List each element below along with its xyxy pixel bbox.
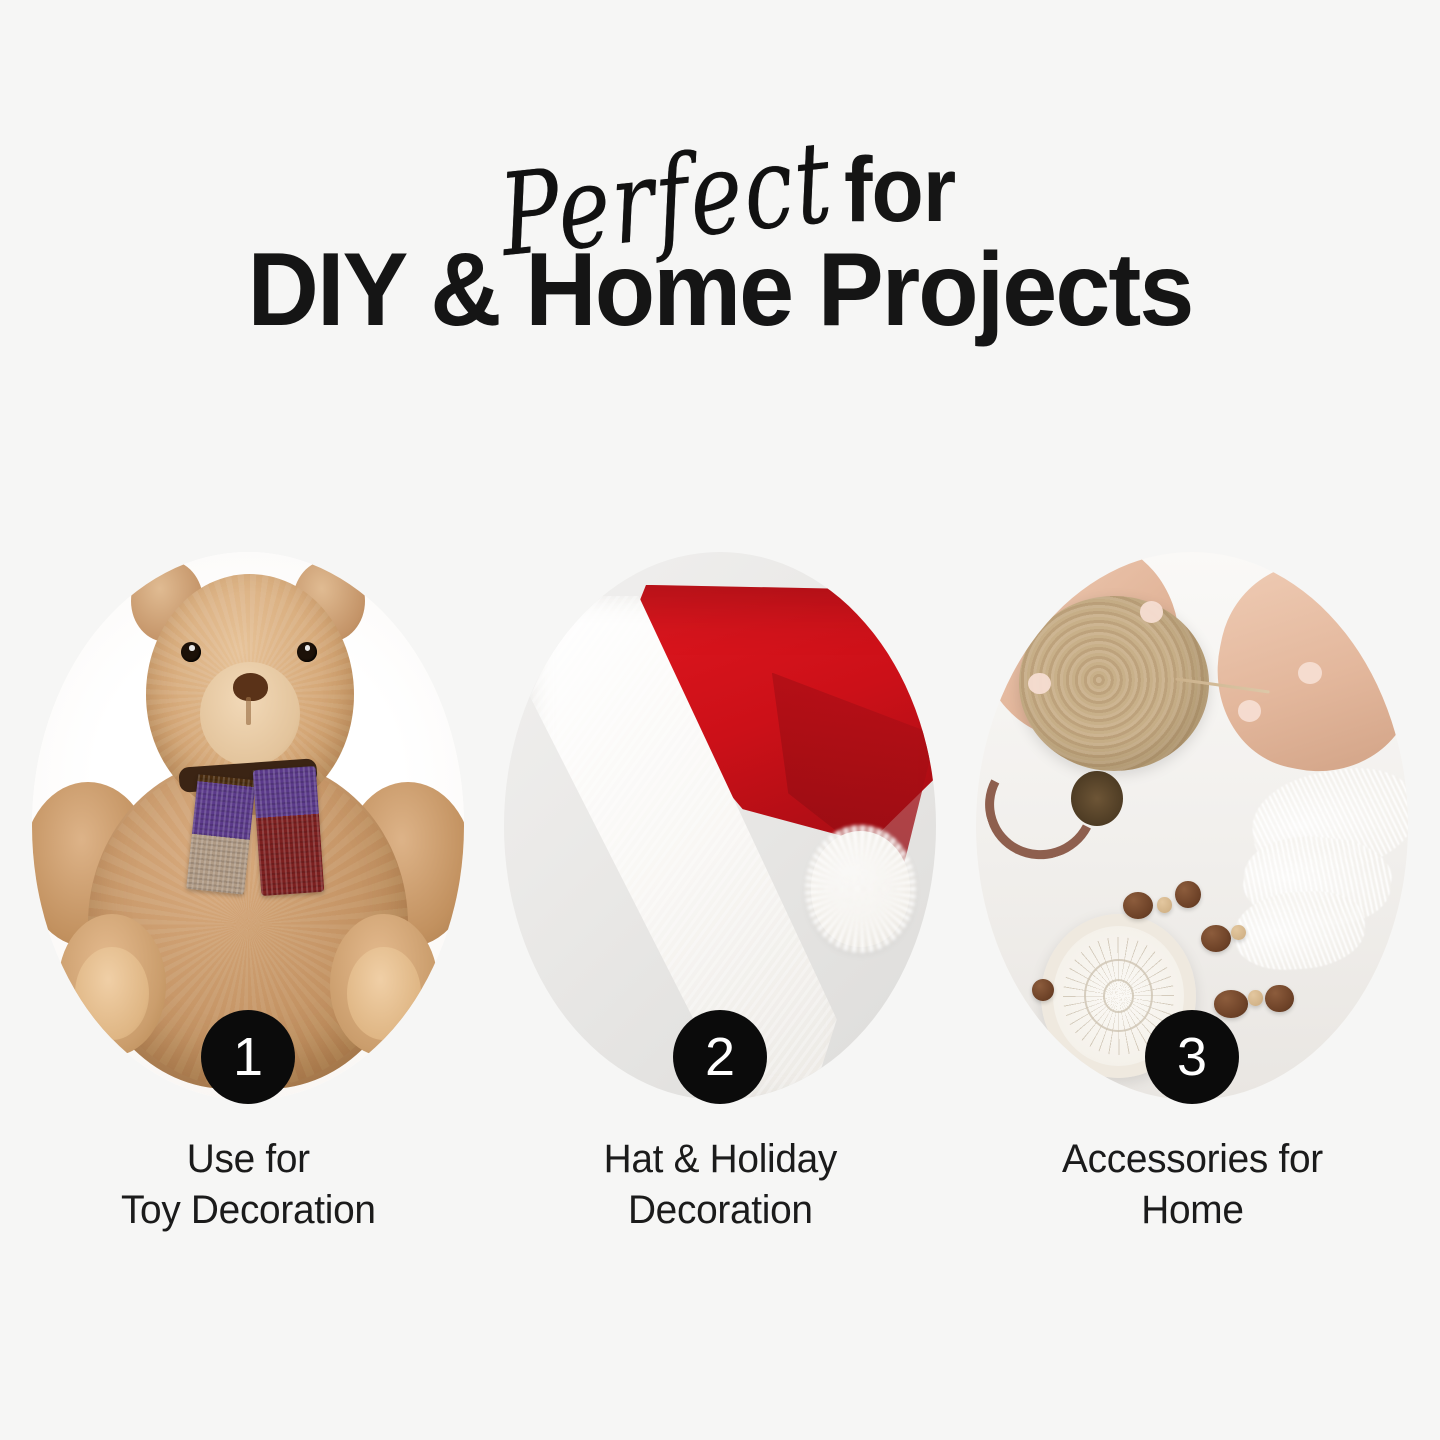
photo-wrap-2: 2 bbox=[504, 552, 936, 1100]
photo-wrap-1: 1 bbox=[32, 552, 464, 1100]
small-bead bbox=[1248, 990, 1263, 1005]
wooden-bead bbox=[1265, 985, 1293, 1012]
step-badge-3: 3 bbox=[1145, 1010, 1239, 1104]
page-title: DIY & Home Projects bbox=[36, 236, 1404, 345]
wooden-bead bbox=[1123, 892, 1153, 919]
headline-top-row: Perfect for bbox=[0, 104, 1440, 232]
fingernail bbox=[1238, 700, 1261, 722]
feature-caption-1: Use for Toy Decoration bbox=[121, 1134, 376, 1236]
bear-foot-right bbox=[347, 947, 420, 1040]
infographic-poster: Perfect for DIY & Home Projects bbox=[0, 0, 1440, 1440]
step-badge-2: 2 bbox=[673, 1010, 767, 1104]
fingernail bbox=[1298, 662, 1321, 684]
bear-eye-highlight-left bbox=[189, 645, 195, 650]
feature-card-row: 1 Use for Toy Decoration bbox=[0, 552, 1440, 1236]
knit-texture bbox=[186, 774, 256, 895]
photo-wrap-3: 3 bbox=[976, 552, 1408, 1100]
feature-card-1: 1 Use for Toy Decoration bbox=[30, 552, 466, 1236]
wooden-bead bbox=[1201, 925, 1231, 952]
feature-card-3: 3 Accessories for Home bbox=[974, 552, 1410, 1236]
bear-eye-highlight-right bbox=[305, 645, 311, 650]
dreamcatcher-web-ring-3 bbox=[1103, 979, 1135, 1013]
knit-texture bbox=[252, 766, 323, 896]
feature-caption-2: Hat & Holiday Decoration bbox=[603, 1134, 836, 1236]
small-bead bbox=[1231, 925, 1246, 940]
feature-card-2: 2 Hat & Holiday Decoration bbox=[502, 552, 938, 1236]
bear-foot-left bbox=[75, 947, 148, 1040]
bear-scarf-tail-left bbox=[186, 774, 256, 895]
bear-nose bbox=[233, 673, 268, 701]
feature-caption-3: Accessories for Home bbox=[1062, 1134, 1323, 1236]
santa-hat-pompom bbox=[811, 831, 910, 946]
headline-for-word: for bbox=[844, 147, 955, 234]
wooden-bead bbox=[1032, 979, 1054, 1001]
spool-core-hole bbox=[1071, 771, 1123, 826]
wooden-bead bbox=[1214, 990, 1249, 1017]
bear-scarf-tail-right bbox=[252, 766, 323, 896]
wooden-bead bbox=[1175, 881, 1201, 908]
heading-block: Perfect for DIY & Home Projects bbox=[0, 104, 1440, 345]
step-badge-1: 1 bbox=[201, 1010, 295, 1104]
small-bead bbox=[1157, 897, 1172, 912]
bear-muzzle-line bbox=[246, 697, 251, 724]
